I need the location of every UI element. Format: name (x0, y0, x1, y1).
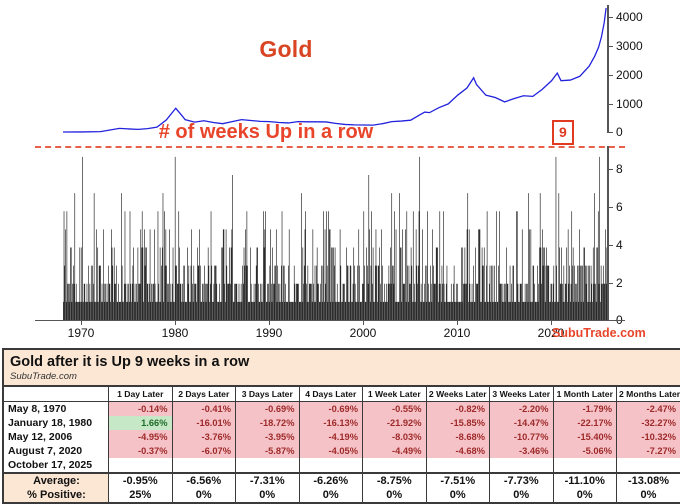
price-tick (607, 132, 613, 133)
result-cell: -0.14% (109, 402, 173, 417)
table-head-row: 1 Day Later2 Days Later3 Days Later4 Day… (4, 387, 680, 402)
result-cell: -4.49% (363, 444, 427, 458)
x-axis-line (35, 320, 625, 321)
column-header: 2 Weeks Later (426, 387, 490, 402)
column-header: 3 Days Later (236, 387, 300, 402)
table-brand: SubuTrade.com (10, 371, 674, 383)
gold-streak-report: Gold # of weeks Up in a row 9 4000 3000 … (0, 0, 680, 494)
pct-positive-label: % Positive: (4, 488, 109, 502)
streak-tick-label-4: 4 (616, 238, 623, 252)
average-cell: -7.73% (490, 473, 554, 488)
column-header: 1 Day Later (109, 387, 173, 402)
result-cell: -0.69% (299, 402, 363, 417)
pct-positive-cell: 0% (426, 488, 490, 502)
x-tick (551, 320, 552, 325)
price-tick (607, 17, 613, 18)
table-row: May 8, 1970-0.14%-0.41%-0.69%-0.69%-0.55… (4, 402, 680, 417)
x-tick-label-1970: 1970 (68, 326, 95, 340)
average-cell: -0.95% (109, 473, 173, 488)
price-tick-label-1000: 1000 (616, 97, 643, 111)
row-date: May 8, 1970 (4, 402, 109, 417)
average-cell: -7.51% (426, 473, 490, 488)
column-header: 1 Month Later (553, 387, 617, 402)
result-cell: -8.68% (426, 430, 490, 444)
result-cell: -3.95% (236, 430, 300, 444)
price-tick-label-3000: 3000 (616, 39, 643, 53)
pct-positive-cell: 25% (109, 488, 173, 502)
result-cell (109, 458, 173, 473)
table-title: Gold after it is Up 9 weeks in a row (10, 353, 674, 371)
x-tick (175, 320, 176, 325)
result-cell: -10.77% (490, 430, 554, 444)
result-cell: -22.17% (553, 416, 617, 430)
result-cell: -4.95% (109, 430, 173, 444)
pct-positive-cell: 0% (299, 488, 363, 502)
table-row: October 17, 2025 (4, 458, 680, 473)
result-cell: -8.03% (363, 430, 427, 444)
result-cell: -5.87% (236, 444, 300, 458)
weeks-up-bar-chart (63, 146, 608, 320)
streak-tick (607, 283, 613, 284)
pct-positive-cell: 0% (553, 488, 617, 502)
streak-tick (607, 169, 613, 170)
result-cell: -0.41% (172, 402, 236, 417)
result-cell: -0.37% (109, 444, 173, 458)
gold-price-line-chart (63, 5, 608, 133)
x-tick (81, 320, 82, 325)
average-cell: -7.31% (236, 473, 300, 488)
price-tick-label-4000: 4000 (616, 10, 643, 24)
chart-area: Gold # of weeks Up in a row 9 4000 3000 … (0, 0, 680, 340)
result-cell: -4.68% (426, 444, 490, 458)
average-label: Average: (4, 473, 109, 488)
blank-corner-header (4, 387, 109, 402)
column-header: 2 Days Later (172, 387, 236, 402)
result-cell: -15.40% (553, 430, 617, 444)
table-header: Gold after it is Up 9 weeks in a row Sub… (4, 350, 680, 387)
result-cell: -0.82% (426, 402, 490, 417)
streak-tick (607, 245, 613, 246)
average-cell: -6.26% (299, 473, 363, 488)
table-row: January 18, 19801.66%-16.01%-18.72%-16.1… (4, 416, 680, 430)
result-cell: -3.46% (490, 444, 554, 458)
result-cell: -15.85% (426, 416, 490, 430)
row-date: January 18, 1980 (4, 416, 109, 430)
current-streak-badge: 9 (552, 120, 574, 145)
column-header: 4 Days Later (299, 387, 363, 402)
streak-tick-label-2: 2 (616, 276, 623, 290)
row-date: May 12, 2006 (4, 430, 109, 444)
average-cell: -8.75% (363, 473, 427, 488)
result-cell: -5.06% (553, 444, 617, 458)
result-cell: -21.92% (363, 416, 427, 430)
price-tick (607, 75, 613, 76)
average-cell: -11.10% (553, 473, 617, 488)
x-tick-label-1980: 1980 (162, 326, 189, 340)
average-cell: -13.08% (617, 473, 680, 488)
result-cell: -0.55% (363, 402, 427, 417)
gold-price-line (63, 8, 606, 132)
result-cell: -1.79% (553, 402, 617, 417)
result-cell (490, 458, 554, 473)
result-cell: -4.19% (299, 430, 363, 444)
result-cell: 1.66% (109, 416, 173, 430)
result-cell: -7.27% (617, 444, 680, 458)
streak-axis-line (607, 146, 609, 320)
pct-positive-cell: 0% (172, 488, 236, 502)
streak-bars (63, 146, 608, 320)
result-cell: -16.13% (299, 416, 363, 430)
price-axis-line (607, 5, 609, 133)
performance-table: 1 Day Later2 Days Later3 Days Later4 Day… (4, 387, 680, 502)
result-cell (299, 458, 363, 473)
threshold-line-9 (35, 146, 625, 148)
table-row: 1 Day Later2 Days Later3 Days Later4 Day… (4, 387, 680, 402)
column-header: 3 Weeks Later (490, 387, 554, 402)
result-cell: -18.72% (236, 416, 300, 430)
chart-brand-watermark: SubuTrade.com (552, 326, 646, 340)
streak-tick (607, 207, 613, 208)
x-tick (269, 320, 270, 325)
result-cell: -2.47% (617, 402, 680, 417)
result-cell: -3.76% (172, 430, 236, 444)
x-tick-label-1990: 1990 (256, 326, 283, 340)
price-line-svg (63, 5, 608, 133)
row-date: October 17, 2025 (4, 458, 109, 473)
chart-subtitle: # of weeks Up in a row (0, 121, 680, 144)
x-tick (457, 320, 458, 325)
pct-positive-cell: 0% (617, 488, 680, 502)
result-cell: -4.05% (299, 444, 363, 458)
result-cell: -10.32% (617, 430, 680, 444)
result-cell: -16.01% (172, 416, 236, 430)
x-tick-label-2010: 2010 (444, 326, 471, 340)
column-header: 1 Week Later (363, 387, 427, 402)
result-cell: -14.47% (490, 416, 554, 430)
pct-positive-row: % Positive:25%0%0%0%0%0%0%0%0% (4, 488, 680, 502)
average-cell: -6.56% (172, 473, 236, 488)
pct-positive-cell: 0% (490, 488, 554, 502)
result-cell (172, 458, 236, 473)
price-tick (607, 104, 613, 105)
result-cell (553, 458, 617, 473)
price-tick-label-2000: 2000 (616, 68, 643, 82)
result-cell: -0.69% (236, 402, 300, 417)
result-cell (617, 458, 680, 473)
table-body: May 8, 1970-0.14%-0.41%-0.69%-0.69%-0.55… (4, 402, 680, 503)
pct-positive-cell: 0% (236, 488, 300, 502)
result-cell (426, 458, 490, 473)
pct-positive-cell: 0% (363, 488, 427, 502)
x-tick-label-2000: 2000 (350, 326, 377, 340)
table-row: August 7, 2020-0.37%-6.07%-5.87%-4.05%-4… (4, 444, 680, 458)
streak-tick-label-8: 8 (616, 162, 623, 176)
column-header: 2 Months Later (617, 387, 680, 402)
result-cell: -32.27% (617, 416, 680, 430)
x-tick (363, 320, 364, 325)
result-cell (363, 458, 427, 473)
streak-tick-label-6: 6 (616, 200, 623, 214)
row-date: August 7, 2020 (4, 444, 109, 458)
result-cell: -2.20% (490, 402, 554, 417)
result-cell: -6.07% (172, 444, 236, 458)
table-row: May 12, 2006-4.95%-3.76%-3.95%-4.19%-8.0… (4, 430, 680, 444)
results-table: Gold after it is Up 9 weeks in a row Sub… (2, 348, 680, 504)
result-cell (236, 458, 300, 473)
average-row: Average:-0.95%-6.56%-7.31%-6.26%-8.75%-7… (4, 473, 680, 488)
price-tick-label-0: 0 (616, 125, 623, 139)
price-tick (607, 46, 613, 47)
